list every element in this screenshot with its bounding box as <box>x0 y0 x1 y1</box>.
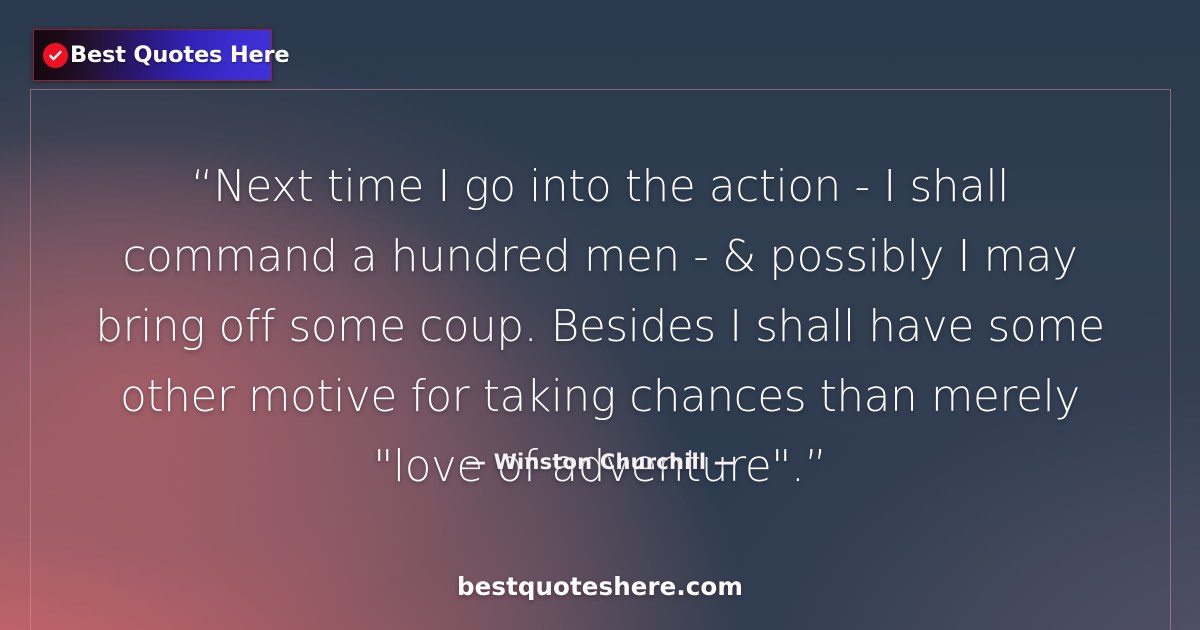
check-circle-icon <box>43 43 68 68</box>
brand-badge[interactable]: Best Quotes Here <box>33 29 272 81</box>
quote-card: Best Quotes Here “Next time I go into th… <box>0 0 1200 630</box>
quote-attribution: — Winston Churchill — <box>0 450 1200 474</box>
brand-name-label: Best Quotes Here <box>70 42 289 68</box>
footer-website-url[interactable]: bestquoteshere.com <box>0 572 1200 601</box>
